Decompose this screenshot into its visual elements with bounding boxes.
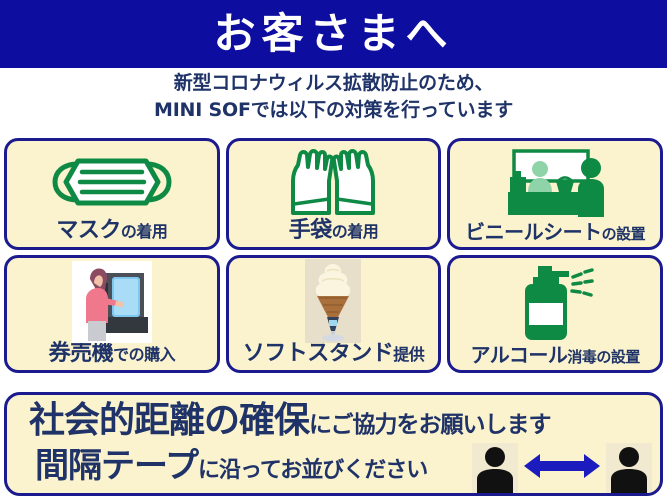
measure-label-gloves: 手袋の着用 [289, 220, 379, 247]
social-distance-graphic [472, 443, 652, 493]
person-silhouette-icon-left [472, 443, 518, 493]
ticket-vending-machine-icon [7, 258, 217, 343]
measure-card-soft-serve: ソフトスタンド提供 [226, 255, 442, 373]
measure-label-sub: での購入 [113, 347, 175, 363]
measure-label-ticket-machine: 券売機での購入 [49, 343, 176, 370]
measure-label-main: アルコール [470, 345, 567, 365]
page-title: お客さまへ [213, 13, 453, 55]
header-banner: お客さまへ [0, 0, 667, 68]
measure-card-mask: マスクの着用 [4, 138, 220, 250]
banner-line-1: 社会的距離の確保にご協力をお願いします [29, 403, 551, 439]
measure-label-sub: の設置 [602, 227, 646, 242]
banner-line-2: 間隔テープに沿ってお並びください [35, 449, 427, 483]
measure-label-vinyl-sheet: ビニールシートの設置 [465, 222, 645, 247]
subtitle-line-2: MINI SOFでは以下の対策を行っています [0, 97, 667, 124]
measure-label-main: ビニールシート [465, 222, 602, 242]
measure-label-main: ソフトスタンド [243, 343, 394, 365]
banner-line-1-emphasis: 社会的距離の確保 [29, 403, 309, 439]
measure-label-sub: の着用 [121, 224, 168, 240]
measure-label-sub: 消毒の設置 [567, 350, 640, 365]
measure-label-main: 券売機 [49, 343, 114, 365]
measure-label-mask: マスクの着用 [56, 220, 167, 247]
subtitle-block: 新型コロナウィルス拡散防止のため、 MINI SOFでは以下の対策を行っています [0, 70, 667, 124]
covid-notice-poster: お客さまへ 新型コロナウィルス拡散防止のため、 MINI SOFでは以下の対策を… [0, 0, 667, 500]
measure-card-ticket-machine: 券売機での購入 [4, 255, 220, 373]
measure-card-alcohol: アルコール消毒の設置 [447, 255, 663, 373]
soft-serve-ice-cream-icon [229, 256, 439, 343]
measure-label-main: マスク [56, 220, 121, 242]
measure-card-gloves: 手袋の着用 [226, 138, 442, 250]
measure-card-vinyl-sheet: ビニールシートの設置 [447, 138, 663, 250]
banner-line-2-emphasis: 間隔テープ [35, 449, 198, 483]
measure-label-sub: 提供 [393, 347, 424, 363]
measure-label-alcohol: アルコール消毒の設置 [470, 345, 639, 370]
person-silhouette-icon-right [606, 443, 652, 493]
social-distance-banner: 社会的距離の確保にご協力をお願いします 間隔テープに沿ってお並びください [4, 392, 663, 496]
gloves-icon [229, 141, 439, 220]
alcohol-sanitizer-icon [450, 258, 660, 345]
double-arrow-icon [522, 449, 602, 488]
banner-line-2-rest: に沿ってお並びください [198, 460, 427, 482]
vinyl-sheet-counter-icon [450, 141, 660, 222]
measures-grid: マスクの着用 手袋の着用 [4, 138, 663, 373]
subtitle-line-1: 新型コロナウィルス拡散防止のため、 [0, 70, 667, 97]
measure-label-soft-serve: ソフトスタンド提供 [243, 343, 425, 370]
face-mask-icon [7, 141, 217, 220]
measure-label-main: 手袋 [289, 220, 332, 242]
measure-label-sub: の着用 [332, 224, 379, 240]
banner-line-1-rest: にご協力をお願いします [309, 414, 551, 437]
